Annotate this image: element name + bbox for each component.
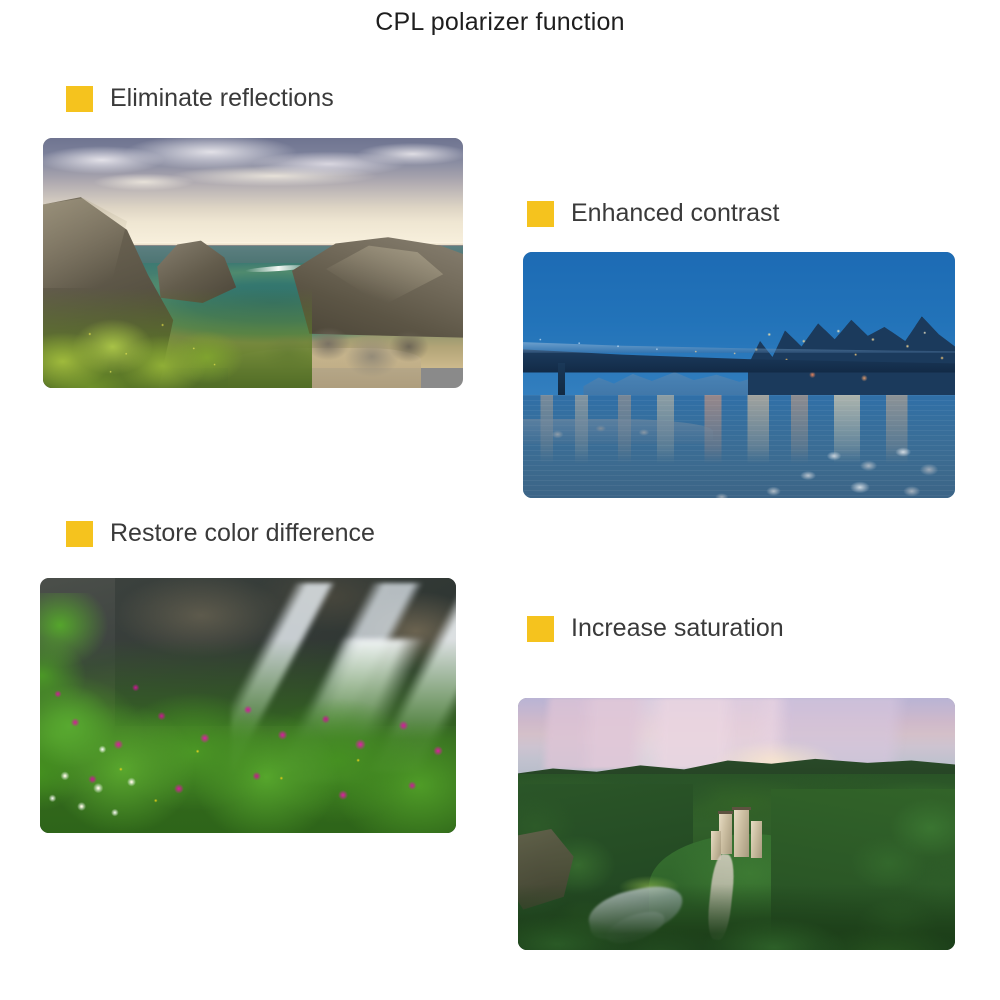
feature-label-text: Restore color difference <box>110 519 375 548</box>
yellow-square-bullet-icon <box>527 616 554 642</box>
feature-label-restore-color-difference: Restore color difference <box>66 519 375 548</box>
feature-label-text: Increase saturation <box>571 614 784 643</box>
feature-label-eliminate-reflections: Eliminate reflections <box>66 84 334 113</box>
castle-valley-scene <box>518 698 955 950</box>
castle-roof <box>732 807 750 810</box>
night-cityscape-photo <box>523 252 955 498</box>
yellow-square-bullet-icon <box>66 521 93 547</box>
feature-label-increase-saturation: Increase saturation <box>527 614 784 643</box>
night-cityscape-scene <box>523 252 955 498</box>
feature-label-text: Eliminate reflections <box>110 84 334 113</box>
castle-tower <box>734 809 750 857</box>
wildflowers-stream-photo <box>40 578 456 833</box>
page-title: CPL polarizer function <box>0 8 1000 37</box>
yellow-flowers-icon <box>43 298 303 388</box>
bridge-lamps-icon <box>523 333 955 363</box>
coastal-cove-photo <box>43 138 463 388</box>
wildflowers-stream-scene <box>40 578 456 833</box>
castle-tower <box>751 821 762 858</box>
yellow-square-bullet-icon <box>527 201 554 227</box>
coastal-cove-scene <box>43 138 463 388</box>
feature-label-text: Enhanced contrast <box>571 199 779 228</box>
feature-label-enhanced-contrast: Enhanced contrast <box>527 199 779 228</box>
yellow-buds-icon <box>65 711 414 823</box>
yellow-square-bullet-icon <box>66 86 93 112</box>
castle-valley-photo <box>518 698 955 950</box>
castle-roof <box>718 811 734 814</box>
pebble-shore-layer <box>523 405 955 498</box>
foreground-trees <box>518 884 955 950</box>
